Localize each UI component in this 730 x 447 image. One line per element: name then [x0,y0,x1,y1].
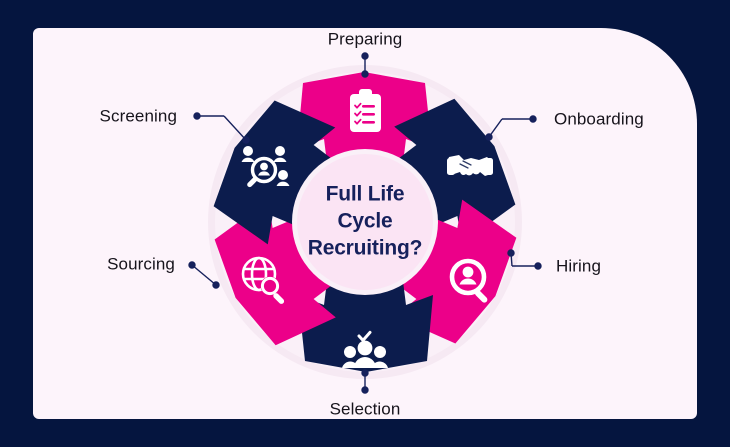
center-title: Full Life Cycle Recruiting? [290,182,440,263]
infographic-root: Preparing Onboarding Hiring Selection So… [0,0,730,447]
center-title-line-3: Recruiting? [290,235,440,262]
segment-label-screening[interactable]: Screening [100,108,177,125]
center-title-line-2: Cycle [290,209,440,236]
segment-label-preparing[interactable]: Preparing [328,31,403,48]
segment-label-onboarding[interactable]: Onboarding [554,111,644,128]
segment-label-sourcing[interactable]: Sourcing [107,256,175,273]
center-title-line-1: Full Life [290,182,440,209]
segment-label-hiring[interactable]: Hiring [556,258,601,275]
segment-label-selection[interactable]: Selection [330,401,401,418]
